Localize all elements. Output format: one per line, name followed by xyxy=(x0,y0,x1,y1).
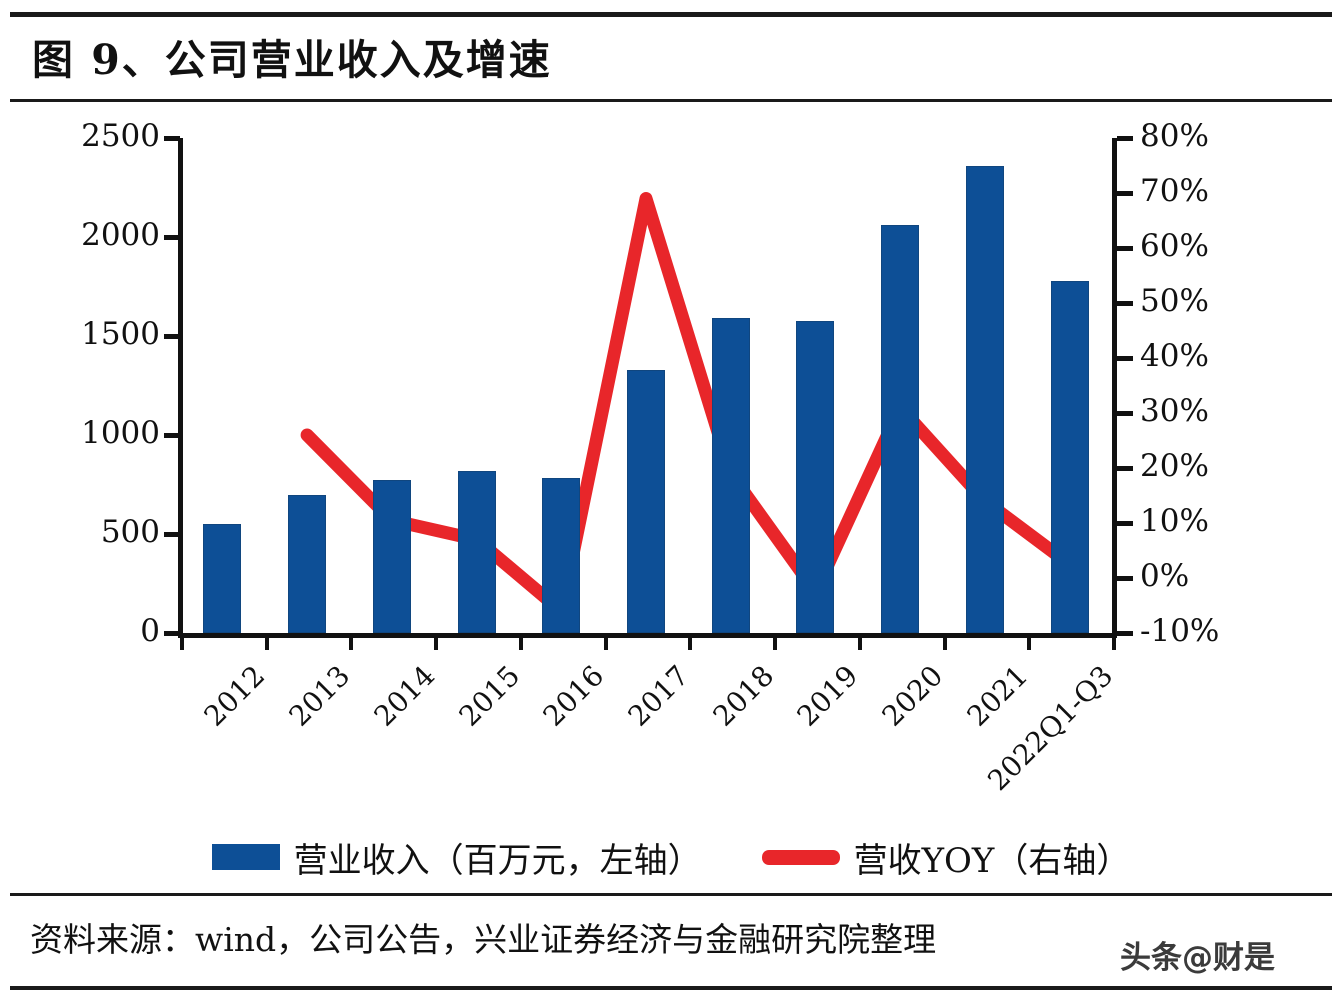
x-tick xyxy=(434,638,438,650)
x-tick xyxy=(604,638,608,650)
y-tick-right xyxy=(1117,246,1133,251)
watermark-label: 头条@财是 xyxy=(1120,932,1275,977)
y-tick-right xyxy=(1117,411,1133,416)
y-axis-left-tick-label: 2500 xyxy=(30,118,160,154)
legend-label-revenue: 营业收入（百万元，左轴） xyxy=(294,833,702,882)
y-axis-right-tick-label: 10% xyxy=(1140,503,1290,539)
x-tick xyxy=(688,638,692,650)
y-axis-right xyxy=(1112,138,1117,638)
x-tick xyxy=(773,638,777,650)
y-axis-right-tick-label: 30% xyxy=(1140,393,1290,429)
bar-revenue xyxy=(966,166,1004,633)
x-axis-tick-label: 2022Q1-Q3 xyxy=(947,659,1119,831)
y-tick-left xyxy=(164,334,180,339)
y-axis-right-tick-label: 40% xyxy=(1140,338,1290,374)
y-tick-right xyxy=(1117,521,1133,526)
y-tick-left xyxy=(164,532,180,537)
x-tick xyxy=(943,638,947,650)
legend-divider xyxy=(10,893,1332,896)
y-axis-left-tick-label: 1000 xyxy=(30,415,160,451)
y-axis-left-tick-label: 500 xyxy=(30,514,160,550)
y-axis-right-tick-label: 80% xyxy=(1140,118,1290,154)
legend-item-revenue: 营业收入（百万元，左轴） xyxy=(212,833,702,882)
y-axis-right-tick-label: 20% xyxy=(1140,448,1290,484)
bar-revenue xyxy=(203,524,241,633)
bar-revenue xyxy=(712,318,750,633)
y-tick-right xyxy=(1117,356,1133,361)
figure-panel: 图 9、公司营业收入及增速 05001000150020002500-10%0%… xyxy=(0,0,1342,1004)
y-axis-left xyxy=(178,138,183,638)
bar-revenue xyxy=(458,471,496,633)
x-tick xyxy=(265,638,269,650)
yoy-line xyxy=(307,199,1070,612)
y-tick-right xyxy=(1117,301,1133,306)
y-tick-left xyxy=(164,433,180,438)
x-axis xyxy=(178,633,1117,638)
bar-revenue xyxy=(796,321,834,633)
y-tick-right xyxy=(1117,466,1133,471)
x-tick xyxy=(180,638,184,650)
y-tick-right xyxy=(1117,191,1133,196)
source-note: 资料来源：wind，公司公告，兴业证券经济与金融研究院整理 xyxy=(30,913,936,961)
y-axis-left-tick-label: 2000 xyxy=(30,217,160,253)
bar-revenue xyxy=(373,480,411,633)
x-tick xyxy=(1112,638,1116,650)
y-tick-right xyxy=(1117,136,1133,141)
x-tick xyxy=(858,638,862,650)
line-swatch-icon xyxy=(762,850,840,865)
legend-label-yoy: 营收YOY（右轴） xyxy=(854,833,1131,882)
chart-legend: 营业收入（百万元，左轴） 营收YOY（右轴） xyxy=(0,826,1342,888)
legend-item-yoy: 营收YOY（右轴） xyxy=(762,833,1131,882)
y-tick-right xyxy=(1117,576,1133,581)
y-tick-left xyxy=(164,631,180,636)
y-axis-right-tick-label: 0% xyxy=(1140,558,1290,594)
bottom-divider xyxy=(10,986,1332,990)
bar-revenue xyxy=(881,225,919,633)
x-tick xyxy=(349,638,353,650)
bar-revenue xyxy=(288,495,326,633)
bar-revenue xyxy=(627,370,665,633)
bar-revenue xyxy=(1051,281,1089,633)
y-axis-right-tick-label: 50% xyxy=(1140,283,1290,319)
y-axis-right-tick-label: 70% xyxy=(1140,173,1290,209)
bar-swatch-icon xyxy=(212,844,280,870)
y-axis-left-tick-label: 1500 xyxy=(30,316,160,352)
x-tick xyxy=(519,638,523,650)
y-axis-right-tick-label: -10% xyxy=(1140,613,1290,649)
y-axis-right-tick-label: 60% xyxy=(1140,228,1290,264)
y-tick-left xyxy=(164,136,180,141)
y-tick-right xyxy=(1117,631,1133,636)
bar-revenue xyxy=(542,478,580,633)
y-tick-left xyxy=(164,235,180,240)
y-axis-left-tick-label: 0 xyxy=(30,613,160,649)
x-tick xyxy=(1027,638,1031,650)
